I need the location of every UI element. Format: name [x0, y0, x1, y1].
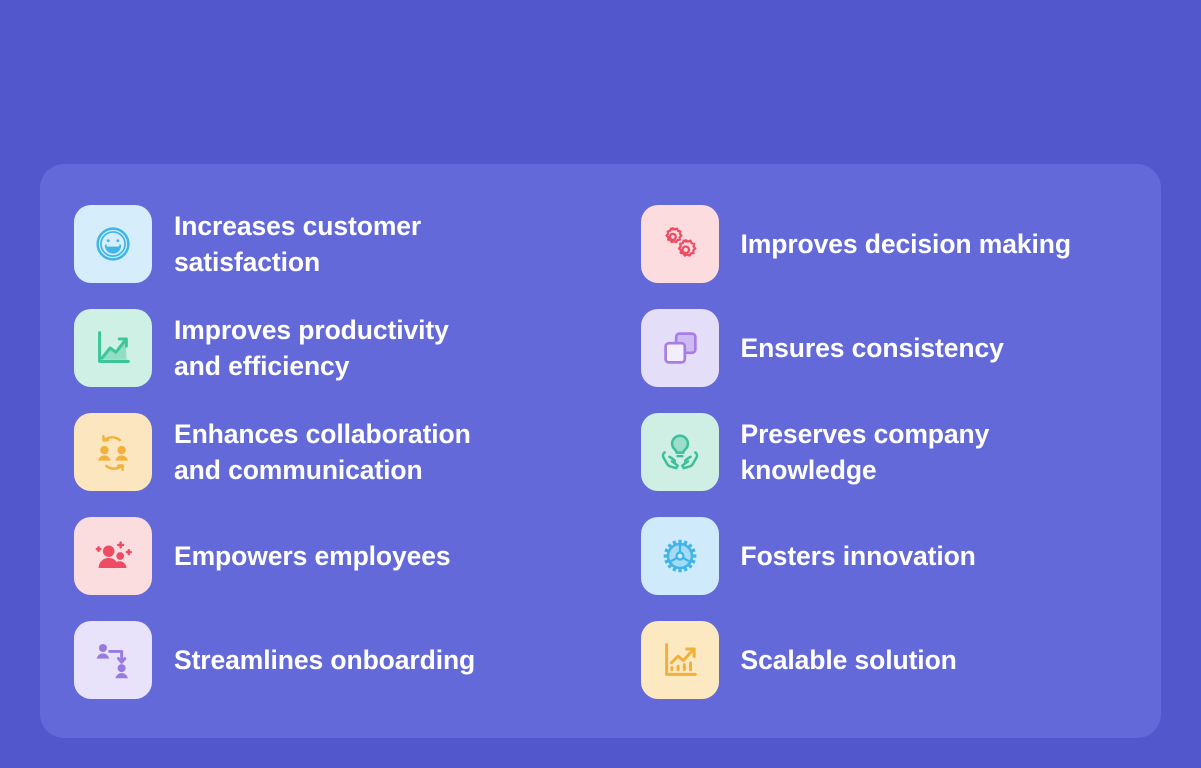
benefit-item-label: Increases customer satisfaction: [174, 208, 421, 281]
benefit-item-label: Improves decision making: [741, 226, 1071, 262]
benefit-item[interactable]: Fosters innovation: [601, 504, 1138, 608]
benefit-item[interactable]: Improves decision making: [601, 192, 1138, 296]
benefit-item-label: Ensures consistency: [741, 330, 1004, 366]
benefit-item[interactable]: Improves productivity and efficiency: [64, 296, 601, 400]
overlapping-squares-icon: [641, 309, 719, 387]
lightbulb-in-hands-icon: [641, 413, 719, 491]
benefit-item[interactable]: Empowers employees: [64, 504, 601, 608]
benefit-item-label: Enhances collaboration and communication: [174, 416, 471, 489]
benefit-item-label: Fosters innovation: [741, 538, 976, 574]
bar-chart-growth-icon: [641, 621, 719, 699]
benefit-item[interactable]: Ensures consistency: [601, 296, 1138, 400]
gears-icon: [641, 205, 719, 283]
smiley-face-icon: [74, 205, 152, 283]
onboarding-flow-people-icon: [74, 621, 152, 699]
benefit-item[interactable]: Enhances collaboration and communication: [64, 400, 601, 504]
growth-chart-arrow-icon: [74, 309, 152, 387]
benefit-item[interactable]: Preserves company knowledge: [601, 400, 1138, 504]
benefit-item-label: Improves productivity and efficiency: [174, 312, 449, 385]
cog-wheel-icon: [641, 517, 719, 595]
slide-canvas: Increases customer satisfaction Improves…: [0, 0, 1201, 768]
benefit-item-label: Scalable solution: [741, 642, 957, 678]
benefit-item[interactable]: Streamlines onboarding: [64, 608, 601, 712]
people-sparkle-icon: [74, 517, 152, 595]
two-people-cycle-icon: [74, 413, 152, 491]
benefit-item-label: Empowers employees: [174, 538, 451, 574]
benefits-panel: Increases customer satisfaction Improves…: [40, 164, 1161, 738]
benefit-item[interactable]: Scalable solution: [601, 608, 1138, 712]
benefit-item[interactable]: Increases customer satisfaction: [64, 192, 601, 296]
benefit-item-label: Streamlines onboarding: [174, 642, 475, 678]
benefit-item-label: Preserves company knowledge: [741, 416, 990, 489]
